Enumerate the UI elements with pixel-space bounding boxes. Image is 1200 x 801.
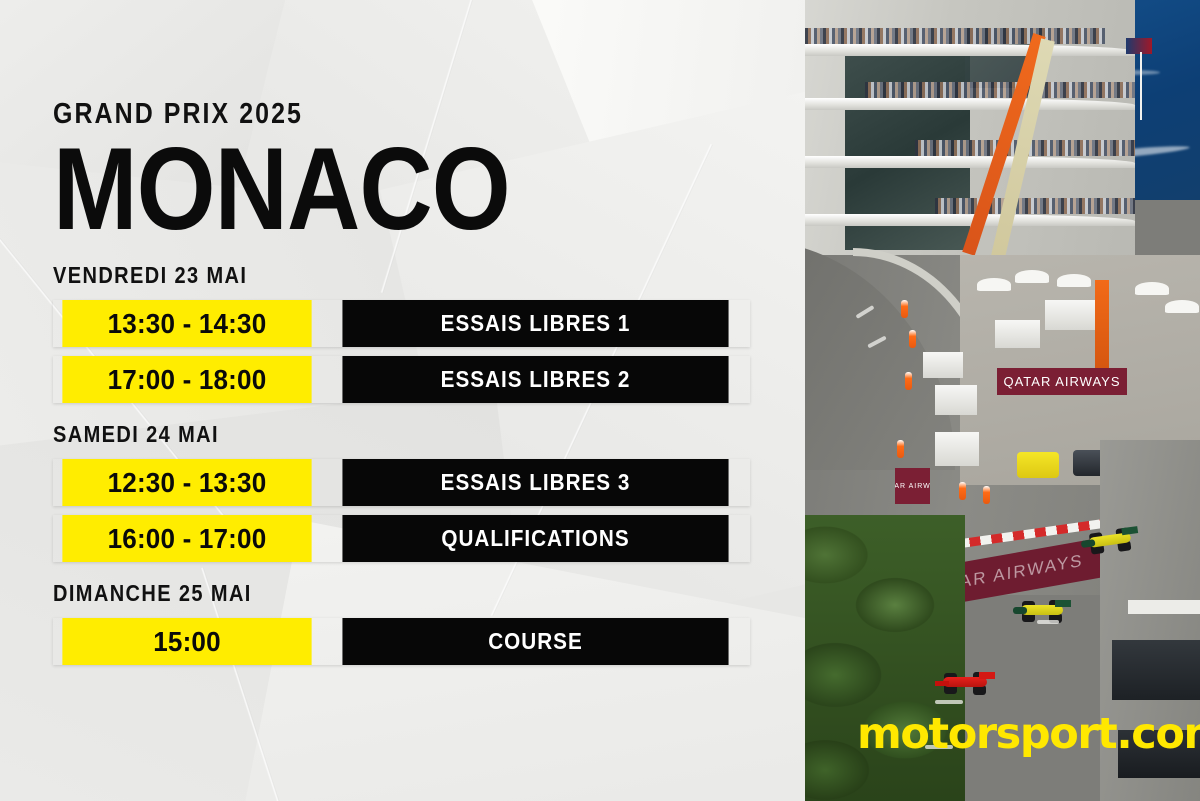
balcony-tier xyxy=(805,156,1135,168)
marshal-icon xyxy=(959,482,966,500)
pit-wall-barrier xyxy=(1128,600,1200,614)
page-title: MONACO xyxy=(53,132,510,246)
session-row[interactable]: 15:00 COURSE xyxy=(53,618,750,665)
session-time: 16:00 - 17:00 xyxy=(62,515,311,562)
crowd-row xyxy=(805,28,1105,44)
pit-structure xyxy=(1112,640,1200,700)
session-name: ESSAIS LIBRES 1 xyxy=(342,300,728,347)
flag-pole xyxy=(1140,52,1142,120)
service-truck xyxy=(995,320,1040,348)
sponsor-banner: QATAR AIRWAYS xyxy=(895,468,930,504)
balcony-tier xyxy=(805,44,1135,56)
umbrella-icon xyxy=(1165,300,1199,313)
crowd-row xyxy=(935,198,1135,214)
session-time: 17:00 - 18:00 xyxy=(62,356,311,403)
umbrella-icon xyxy=(1135,282,1169,295)
crane-arm-icon xyxy=(1095,280,1109,380)
track-marking xyxy=(935,700,963,704)
track-marking xyxy=(1037,620,1059,624)
service-truck xyxy=(935,432,979,466)
schedule-day-block: DIMANCHE 25 MAI 15:00 COURSE xyxy=(0,580,805,665)
session-name: COURSE xyxy=(342,618,728,665)
umbrella-icon xyxy=(977,278,1011,291)
marshal-icon xyxy=(905,372,912,390)
day-label: DIMANCHE 25 MAI xyxy=(53,580,707,607)
session-row[interactable]: 13:30 - 14:30 ESSAIS LIBRES 1 xyxy=(53,300,750,347)
marshal-icon xyxy=(983,486,990,504)
session-name: ESSAIS LIBRES 3 xyxy=(342,459,728,506)
schedule-day-block: VENDREDI 23 MAI 13:30 - 14:30 ESSAIS LIB… xyxy=(0,262,805,403)
session-name: QUALIFICATIONS xyxy=(342,515,728,562)
balcony-tier xyxy=(805,98,1135,110)
schedule-list: VENDREDI 23 MAI 13:30 - 14:30 ESSAIS LIB… xyxy=(0,262,805,683)
umbrella-icon xyxy=(1015,270,1049,283)
motorsport-logo[interactable]: motorsport.com xyxy=(857,709,1200,759)
service-truck xyxy=(1045,300,1095,330)
info-panel: GRAND PRIX 2025 MONACO VENDREDI 23 MAI 1… xyxy=(0,0,805,801)
f1-car-red xyxy=(935,672,995,694)
crowd-row xyxy=(865,82,1135,98)
marshal-icon xyxy=(897,440,904,458)
flag-icon xyxy=(1126,38,1152,54)
service-truck xyxy=(923,352,963,378)
umbrella-icon xyxy=(1057,274,1091,287)
sponsor-banner: QATAR AIRWAYS xyxy=(997,368,1127,395)
marshal-icon xyxy=(901,300,908,318)
session-time: 13:30 - 14:30 xyxy=(62,300,311,347)
circuit-photo: QATAR AIRWAYS QATAR AIRWAYS QATAR AIR QA… xyxy=(805,0,1200,801)
session-row[interactable]: 17:00 - 18:00 ESSAIS LIBRES 2 xyxy=(53,356,750,403)
day-label: SAMEDI 24 MAI xyxy=(53,421,707,448)
medical-car xyxy=(1017,452,1059,478)
service-truck xyxy=(935,385,977,415)
marshal-icon xyxy=(909,330,916,348)
day-label: VENDREDI 23 MAI xyxy=(53,262,707,289)
session-name: ESSAIS LIBRES 2 xyxy=(342,356,728,403)
f1-car-yellow xyxy=(1013,600,1071,622)
session-row[interactable]: 16:00 - 17:00 QUALIFICATIONS xyxy=(53,515,750,562)
session-time: 15:00 xyxy=(62,618,311,665)
race-weekend-poster: GRAND PRIX 2025 MONACO VENDREDI 23 MAI 1… xyxy=(0,0,1200,801)
session-time: 12:30 - 13:30 xyxy=(62,459,311,506)
schedule-day-block: SAMEDI 24 MAI 12:30 - 13:30 ESSAIS LIBRE… xyxy=(0,421,805,562)
session-row[interactable]: 12:30 - 13:30 ESSAIS LIBRES 3 xyxy=(53,459,750,506)
